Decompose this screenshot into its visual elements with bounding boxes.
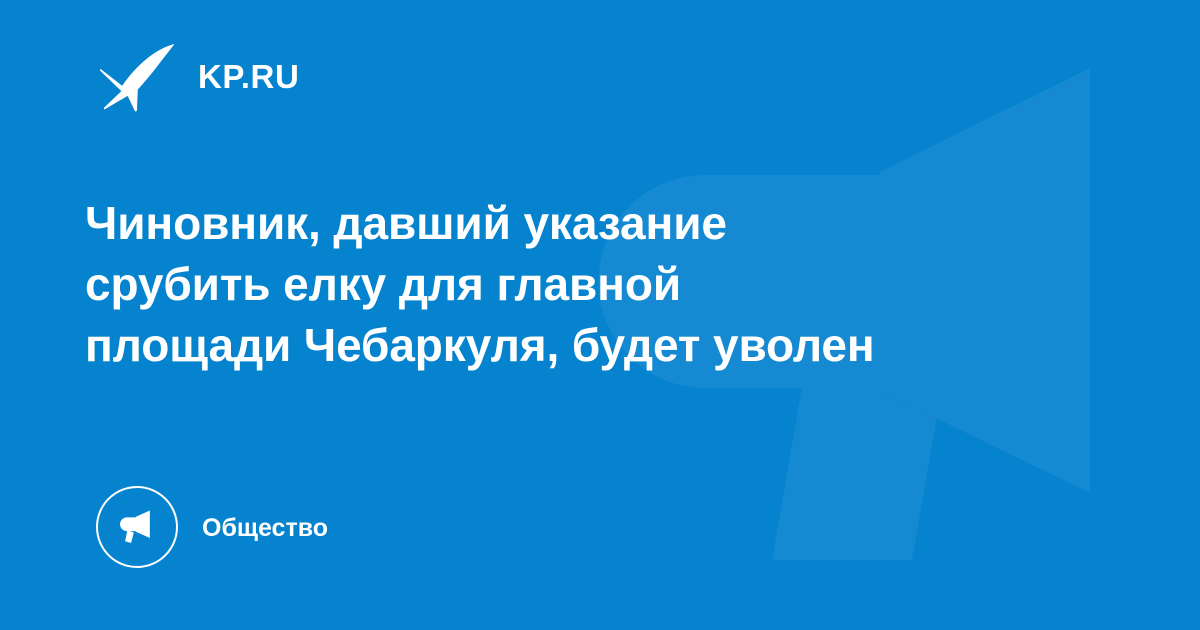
article-share-card: KP.RU Чиновник, давший указание срубить …	[0, 0, 1200, 630]
swallow-bird-icon	[98, 35, 176, 113]
category-badge[interactable]: Общество	[96, 486, 328, 568]
brand-logo[interactable]: KP.RU	[98, 34, 299, 114]
category-label: Общество	[202, 516, 328, 541]
headline-line-1: Чиновник, давший указание	[85, 193, 1115, 254]
megaphone-icon	[96, 486, 178, 568]
headline-line-2: срубить елку для главной	[85, 254, 1115, 315]
brand-name: KP.RU	[198, 60, 299, 93]
article-headline: Чиновник, давший указание срубить елку д…	[85, 193, 1115, 376]
headline-line-3: площади Чебаркуля, будет уволен	[85, 315, 1115, 376]
